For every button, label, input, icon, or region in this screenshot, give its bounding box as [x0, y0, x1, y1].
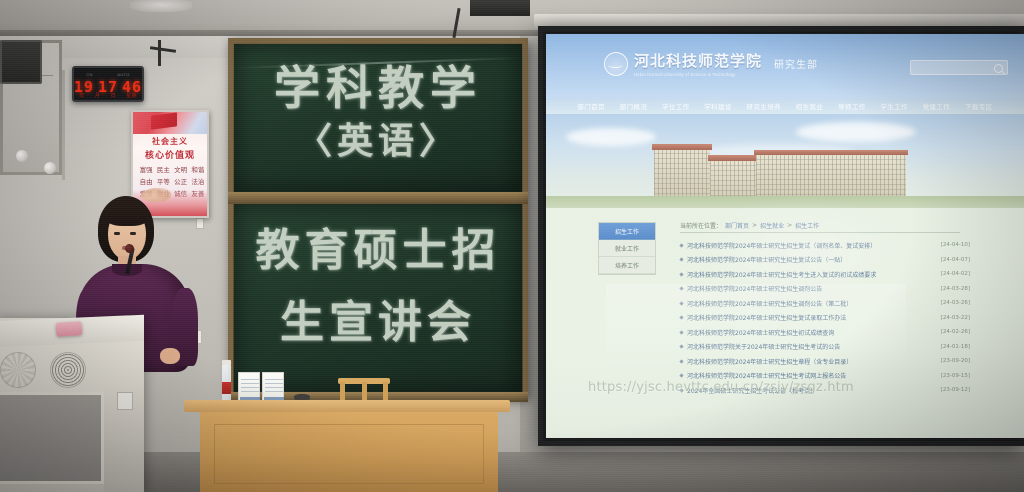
water-bottle-cap — [222, 360, 231, 365]
speaker-hand — [160, 348, 180, 364]
page-url-caption: https://yjsc.hevttc.edu.cn/zsjy/zsgz.htm — [588, 380, 854, 395]
site-department-label: 研究生部 — [774, 56, 818, 71]
clock-label-day: 日 — [111, 92, 116, 99]
bullet-icon — [679, 243, 683, 247]
bullet-icon — [679, 272, 683, 276]
breadcrumb-item-admission[interactable]: 招生就业 — [760, 221, 784, 230]
pink-phone[interactable] — [56, 321, 83, 337]
clock-brand-label: CN — [86, 72, 92, 77]
site-sidebar[interactable]: 招生工作 就业工作 培养工作 — [598, 222, 656, 275]
site-content-area: 招生工作 就业工作 培养工作 当前所在位置： 部门首页 > 招生就业 > 招生工… — [546, 208, 1024, 438]
classroom-scene: CN AUTO 19 17 46 年 月 日 星期 社会主义 核心价值观 富强 … — [0, 0, 1024, 492]
list-item-date: [23-09-12] — [941, 387, 970, 393]
list-item-date: [24-03-22] — [941, 315, 970, 321]
podium-speaker-grille — [50, 352, 86, 388]
sidebar-item-training[interactable]: 培养工作 — [599, 257, 655, 274]
clock-label-weekday: 星期 — [126, 92, 136, 99]
bullet-icon — [679, 258, 683, 262]
poster-flag-graphic — [151, 112, 177, 129]
list-item-date: [24-04-10] — [941, 242, 970, 248]
university-emblem-icon — [604, 52, 628, 76]
desk-top-surface — [184, 400, 510, 412]
poster-value: 富强 — [138, 164, 154, 174]
list-item-date: [24-03-26] — [941, 300, 970, 306]
blackboard-subtitle-line1: 教育硕士招 — [234, 214, 522, 278]
nav-item-student[interactable]: 学生工作 — [880, 101, 908, 111]
site-logo-text: 河北科技师范学院 Hebei Normal University of Scie… — [634, 50, 762, 77]
clock-mode-label: AUTO — [117, 72, 129, 77]
site-logo-cn: 河北科技师范学院 — [634, 52, 762, 70]
breadcrumb-separator: > — [787, 222, 792, 229]
wall-socket-side[interactable] — [196, 218, 204, 229]
list-item-date: [24-02-26] — [941, 329, 970, 335]
speaker-cable — [158, 40, 161, 66]
wall-pipe — [62, 70, 65, 180]
wall-knob-left — [16, 150, 28, 162]
sidebar-item-employment[interactable]: 就业工作 — [599, 240, 655, 257]
bullet-icon — [679, 374, 683, 378]
blackboard-upper-panel: 学科教学 〈英语〉 — [234, 44, 522, 192]
banner-building-roof — [754, 150, 908, 155]
search-icon[interactable] — [994, 64, 1003, 73]
projector-screen-surface: 河北科技师范学院 Hebei Normal University of Scie… — [546, 34, 1024, 438]
news-list: 河北科技师范学院2024年硕士研究生招生复试（调剂名单、复试安排） [24-04… — [680, 238, 970, 398]
poster-value: 民主 — [155, 164, 171, 174]
bullet-icon — [679, 359, 683, 363]
nav-item-advisor[interactable]: 导师工作 — [838, 101, 866, 111]
breadcrumb-item-current[interactable]: 招生工作 — [795, 221, 819, 230]
desk-panel-outline — [214, 424, 484, 484]
list-item[interactable]: 河北科技师范学院2024年硕士研究生招生复试（调剂名单、复试安排） [24-04… — [680, 238, 970, 253]
nav-item-admission[interactable]: 招生就业 — [796, 101, 824, 111]
projector-mount — [470, 0, 530, 16]
list-item-title[interactable]: 河北科技师范学院2024年硕士研究生招生复试录取工作办法 — [687, 313, 937, 322]
list-item[interactable]: 河北科技师范学院2024年硕士研究生招生章程（含专业目录） [23-09-20] — [680, 354, 970, 369]
poster-value: 公正 — [173, 176, 189, 186]
poster-value: 自由 — [138, 176, 154, 186]
breadcrumb-item-home[interactable]: 部门首页 — [725, 221, 749, 230]
poster-value: 法治 — [190, 176, 206, 186]
list-item-date: [24-04-07] — [941, 257, 970, 263]
list-item-title[interactable]: 河北科技师范学院2024年硕士研究生招生考试网上报名公告 — [687, 371, 937, 380]
banner-building-roof — [652, 144, 712, 150]
blackboard-divider — [228, 192, 528, 204]
site-main-nav[interactable]: 部门首页 部门概况 学位工作 学科建设 研究生培养 招生就业 导师工作 学生工作… — [546, 98, 1024, 114]
list-item-title[interactable]: 河北科技师范学院2024年硕士研究生招生调剂公告（第二批） — [687, 299, 937, 308]
clock-top-labels: CN AUTO — [74, 70, 142, 78]
banner-building-roof — [708, 155, 758, 161]
site-banner-image — [546, 114, 1024, 208]
breadcrumb: 当前所在位置： 部门首页 > 招生就业 > 招生工作 — [680, 218, 960, 233]
banner-lawn — [546, 196, 1024, 208]
poster-value: 和谐 — [190, 164, 206, 174]
sidebar-item-admission[interactable]: 招生工作 — [599, 223, 655, 240]
banner-cloud — [566, 128, 656, 146]
banner-cloud — [796, 122, 916, 142]
speaker-eye-right — [130, 232, 136, 235]
blackboard-lower-panel: 教育硕士招 生宣讲会 — [234, 204, 522, 392]
bullet-icon — [679, 287, 683, 291]
list-item-date: [24-04-02] — [941, 271, 970, 277]
microphone-head — [125, 244, 134, 253]
nav-item-discipline[interactable]: 学科建设 — [704, 101, 732, 111]
poster-value: 平等 — [155, 176, 171, 186]
wall-speaker — [0, 40, 42, 84]
site-logo[interactable]: 河北科技师范学院 Hebei Normal University of Scie… — [604, 50, 818, 77]
speaker-fringe — [104, 204, 150, 226]
list-item[interactable]: 河北科技师范学院2024年硕士研究生招生考生进入复试的初试成绩要求 [24-04… — [680, 267, 970, 282]
site-header: 河北科技师范学院 Hebei Normal University of Scie… — [546, 34, 1024, 98]
speaker-eye-left — [114, 232, 120, 235]
list-item-title[interactable]: 河北科技师范学院2024年硕士研究生招生考生进入复试的初试成绩要求 — [687, 270, 937, 279]
bullet-icon — [679, 330, 683, 334]
list-item-title[interactable]: 河北科技师范学院2024年硕士研究生招生章程（含专业目录） — [687, 357, 937, 366]
led-wall-clock: CN AUTO 19 17 46 年 月 日 星期 — [72, 66, 144, 102]
floor — [0, 452, 1024, 492]
list-item[interactable]: 河北科技师范学院2024年硕士研究生招生复试公告（一贴） [24-04-07] — [680, 253, 970, 268]
poster-value: 文明 — [173, 164, 189, 174]
poster-heading-2: 核心价值观 — [133, 148, 207, 161]
list-item-date: [23-09-20] — [941, 358, 970, 364]
list-item[interactable]: 河北科技师范学院关于2024年硕士研究生招生考试的公告 [24-01-18] — [680, 340, 970, 355]
poster-top-banner — [133, 112, 207, 134]
list-item-title[interactable]: 河北科技师范学院2024年硕士研究生招生复试公告（一贴） — [687, 255, 937, 264]
bullet-icon — [679, 301, 683, 305]
list-item-date: [24-01-18] — [941, 344, 970, 350]
list-item[interactable]: 河北科技师范学院2024年硕士研究生招生初试成绩查询 [24-02-26] — [680, 325, 970, 340]
list-item-date: [24-03-28] — [941, 286, 970, 292]
water-bottle-label — [222, 382, 231, 394]
breadcrumb-separator: > — [752, 222, 757, 229]
podium-emblem-icon — [0, 352, 36, 388]
bullet-icon — [679, 316, 683, 320]
list-item-date: [23-09-15] — [941, 373, 970, 379]
nav-item-home[interactable]: 部门首页 — [577, 101, 605, 111]
list-item[interactable]: 河北科技师范学院2024年硕士研究生招生调剂公告 [24-03-28] — [680, 282, 970, 297]
list-item[interactable]: 河北科技师范学院2024年硕士研究生招生调剂公告（第二批） [24-03-26] — [680, 296, 970, 311]
nav-item-downloads[interactable]: 下载专区 — [965, 101, 993, 111]
list-item-title[interactable]: 河北科技师范学院关于2024年硕士研究生招生考试的公告 — [687, 342, 937, 351]
site-logo-en: Hebei Normal University of Science & Tec… — [634, 72, 762, 77]
nav-item-overview[interactable]: 部门概况 — [620, 101, 648, 111]
site-search-box[interactable] — [910, 60, 1008, 75]
clock-label-month: 月 — [95, 92, 100, 99]
nav-item-party[interactable]: 党建工作 — [923, 101, 951, 111]
wall-knob-right — [44, 162, 56, 174]
podium-power-switch[interactable] — [117, 392, 133, 410]
clock-label-year: 年 — [79, 92, 84, 99]
ceiling-lamp — [130, 0, 192, 12]
clock-footer-labels: 年 月 日 星期 — [74, 92, 142, 99]
poster-heading-1: 社会主义 — [133, 136, 207, 147]
list-item-title[interactable]: 河北科技师范学院2024年硕士研究生招生初试成绩查询 — [687, 328, 937, 337]
nav-item-training[interactable]: 研究生培养 — [747, 101, 782, 111]
list-item[interactable]: 河北科技师范学院2024年硕士研究生招生复试录取工作办法 [24-03-22] — [680, 311, 970, 326]
blackboard-title-line1: 学科教学 — [234, 52, 522, 118]
nav-item-degree[interactable]: 学位工作 — [662, 101, 690, 111]
list-item-title[interactable]: 河北科技师范学院2024年硕士研究生招生调剂公告 — [687, 284, 937, 293]
bullet-icon — [679, 345, 683, 349]
blackboard-title-line2: 〈英语〉 — [234, 112, 522, 164]
list-item-title[interactable]: 河北科技师范学院2024年硕士研究生招生复试（调剂名单、复试安排） — [687, 241, 937, 250]
podium-control-monitor[interactable] — [0, 392, 104, 484]
breadcrumb-prefix: 当前所在位置： — [680, 221, 722, 230]
blackboard-subtitle-line2: 生宣讲会 — [234, 286, 522, 350]
